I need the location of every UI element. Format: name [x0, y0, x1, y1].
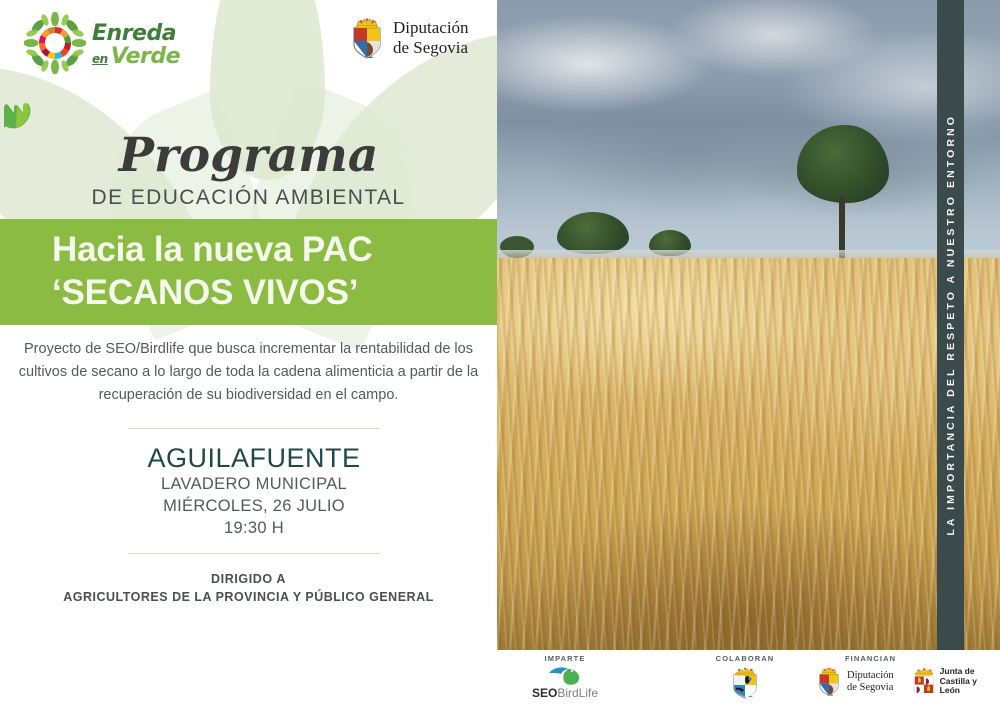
audience-value: AGRICULTORES DE LA PROVINCIA Y PÚBLICO G…	[0, 590, 497, 604]
financian-logo-row: Diputación de Segovia	[817, 666, 997, 697]
vertical-slogan-band: LA IMPORTANCIA DEL RESPETO A NUESTRO ENT…	[937, 0, 964, 650]
diputacion-de-segovia-logo: Diputación de Segovia	[350, 16, 469, 60]
diputacion-line-2: de Segovia	[393, 38, 469, 58]
junta-castilla-leon-logo: Junta de Castilla y León	[912, 667, 997, 696]
diputacion-wordmark: Diputación de Segovia	[393, 18, 469, 57]
wheat-field-photo: LA IMPORTANCIA DEL RESPETO A NUESTRO ENT…	[497, 0, 1000, 650]
left-content-panel: Enreda enVerde	[0, 0, 497, 707]
description-text: Proyecto de SEO/Birdlife que busca incre…	[0, 338, 497, 408]
event-details-block: AGUILAFUENTE LAVADERO MUNICIPAL MIÉRCOLE…	[128, 428, 380, 554]
diputacion-footer-wordmark: Diputación de Segovia	[847, 670, 894, 694]
segovia-coat-of-arms-icon	[350, 16, 384, 60]
en-verde-word: enVerde	[92, 46, 180, 68]
audience-label: DIRIGIDO A	[0, 572, 497, 586]
top-logo-bar: Enreda enVerde	[0, 0, 497, 92]
junta-line-2: Castilla y León	[940, 677, 997, 697]
birdlife-word: BirdLife	[557, 686, 598, 700]
diputacion-footer-line-1: Diputación	[847, 670, 894, 682]
diputacion-footer-line-2: de Segovia	[847, 682, 894, 694]
sponsor-footer: IMPARTE SEOBirdLife COLABORAN	[497, 650, 1000, 707]
page-title: Programa	[0, 132, 497, 179]
colaboran-logo-row	[685, 666, 805, 700]
financian-label: FINANCIAN	[817, 654, 997, 663]
enreda-word: Enreda	[92, 23, 180, 45]
diputacion-footer-logo: Diputación de Segovia	[817, 666, 894, 697]
vertical-slogan-text: LA IMPORTANCIA DEL RESPETO A NUESTRO ENT…	[945, 114, 957, 536]
imparte-label: IMPARTE	[505, 654, 625, 663]
program-heading-block: Programa DE EDUCACIÓN AMBIENTAL	[0, 100, 497, 210]
leaf-mark-icon	[0, 100, 34, 132]
wheat-field	[497, 258, 1000, 650]
seo-birdlife-logo: SEOBirdLife	[532, 666, 598, 699]
enreda-en-verde-logo: Enreda enVerde	[24, 12, 180, 74]
footer-group-financian: FINANCIAN	[817, 654, 997, 697]
poster-root: Enreda enVerde	[0, 0, 1000, 707]
seo-birdlife-wordmark: SEOBirdLife	[532, 687, 598, 699]
headline-band: Hacia la nueva PAC ‘SECANOS VIVOS’	[0, 219, 497, 325]
en-word: en	[92, 52, 108, 66]
audience-block: DIRIGIDO A AGRICULTORES DE LA PROVINCIA …	[0, 572, 497, 604]
enreda-wordmark: Enreda enVerde	[92, 19, 180, 68]
junta-wordmark: Junta de Castilla y León	[940, 667, 997, 696]
footer-group-imparte: IMPARTE SEOBirdLife	[505, 654, 625, 699]
footer-group-colaboran: COLABORAN	[685, 654, 805, 700]
aguilafuente-coat-of-arms-icon	[731, 666, 759, 700]
castilla-leon-coat-of-arms-icon	[912, 667, 936, 695]
headline-line-2: ‘SECANOS VIVOS’	[52, 272, 497, 315]
imparte-logo-row: SEOBirdLife	[505, 666, 625, 699]
event-city: AGUILAFUENTE	[128, 443, 380, 474]
sdg-wheel-icon	[24, 12, 86, 74]
colaboran-label: COLABORAN	[685, 654, 805, 663]
segovia-coat-of-arms-icon	[817, 666, 841, 697]
verde-word: Verde	[111, 44, 180, 69]
page-subtitle: DE EDUCACIÓN AMBIENTAL	[0, 186, 497, 210]
seo-bird-leaf-icon	[546, 666, 584, 686]
event-time: 19:30 H	[128, 518, 380, 540]
event-venue: LAVADERO MUNICIPAL	[128, 474, 380, 496]
diputacion-line-1: Diputación	[393, 18, 469, 38]
headline-line-1: Hacia la nueva PAC	[52, 229, 497, 272]
event-date: MIÉRCOLES, 26 JULIO	[128, 496, 380, 518]
seo-word: SEO	[532, 686, 557, 700]
